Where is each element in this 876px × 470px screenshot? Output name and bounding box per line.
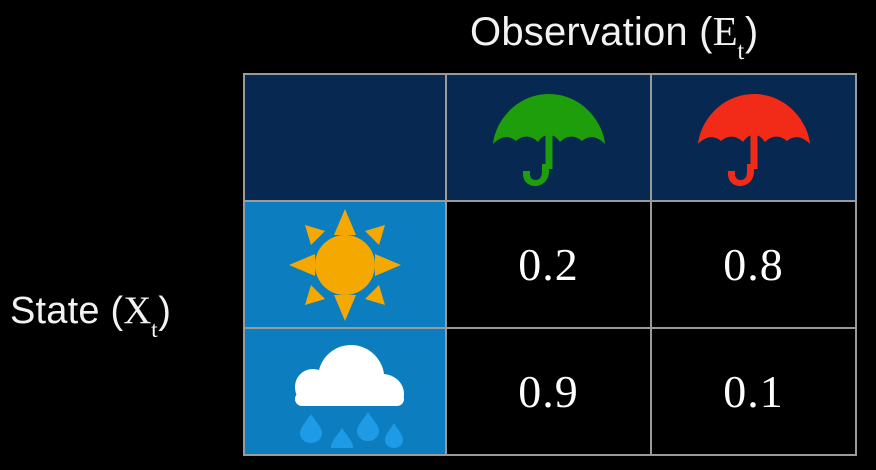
state-label-prefix: State ( (10, 290, 123, 332)
prob-cell-rainy-umbrella-true: 0.9 (446, 328, 651, 455)
state-label-suffix: ) (158, 290, 171, 332)
prob-value: 0.2 (518, 239, 579, 290)
prob-value: 0.8 (723, 239, 784, 290)
umbrella-green-icon (447, 75, 650, 200)
state-axis-label: State (Xt) (10, 288, 171, 348)
emission-probability-table: 0.2 0.8 (243, 73, 857, 456)
rain-cloud-icon (245, 329, 445, 454)
prob-cell-sunny-umbrella-true: 0.2 (446, 201, 651, 328)
prob-value: 0.9 (518, 366, 579, 417)
observation-variable: E (713, 9, 738, 54)
table-corner-cell (244, 74, 446, 201)
observation-label-prefix: Observation ( (470, 10, 713, 54)
prob-cell-rainy-umbrella-false: 0.1 (651, 328, 856, 455)
slide-canvas: Observation (Et) State (Xt) (0, 0, 876, 470)
row-header-sunny (244, 201, 446, 328)
table-row: 0.9 0.1 (244, 328, 856, 455)
state-variable: X (123, 289, 151, 332)
table-row: 0.2 0.8 (244, 201, 856, 328)
table-header-row (244, 74, 856, 201)
observation-subscript: t (737, 38, 744, 65)
observation-label-suffix: ) (745, 10, 759, 54)
sun-icon (245, 202, 445, 327)
header-cell-umbrella-true (446, 74, 651, 201)
observation-axis-label: Observation (Et) (470, 8, 758, 71)
prob-cell-sunny-umbrella-false: 0.8 (651, 201, 856, 328)
state-subscript: t (151, 317, 158, 343)
row-header-rainy (244, 328, 446, 455)
umbrella-red-icon (652, 75, 855, 200)
prob-value: 0.1 (723, 366, 784, 417)
header-cell-umbrella-false (651, 74, 856, 201)
